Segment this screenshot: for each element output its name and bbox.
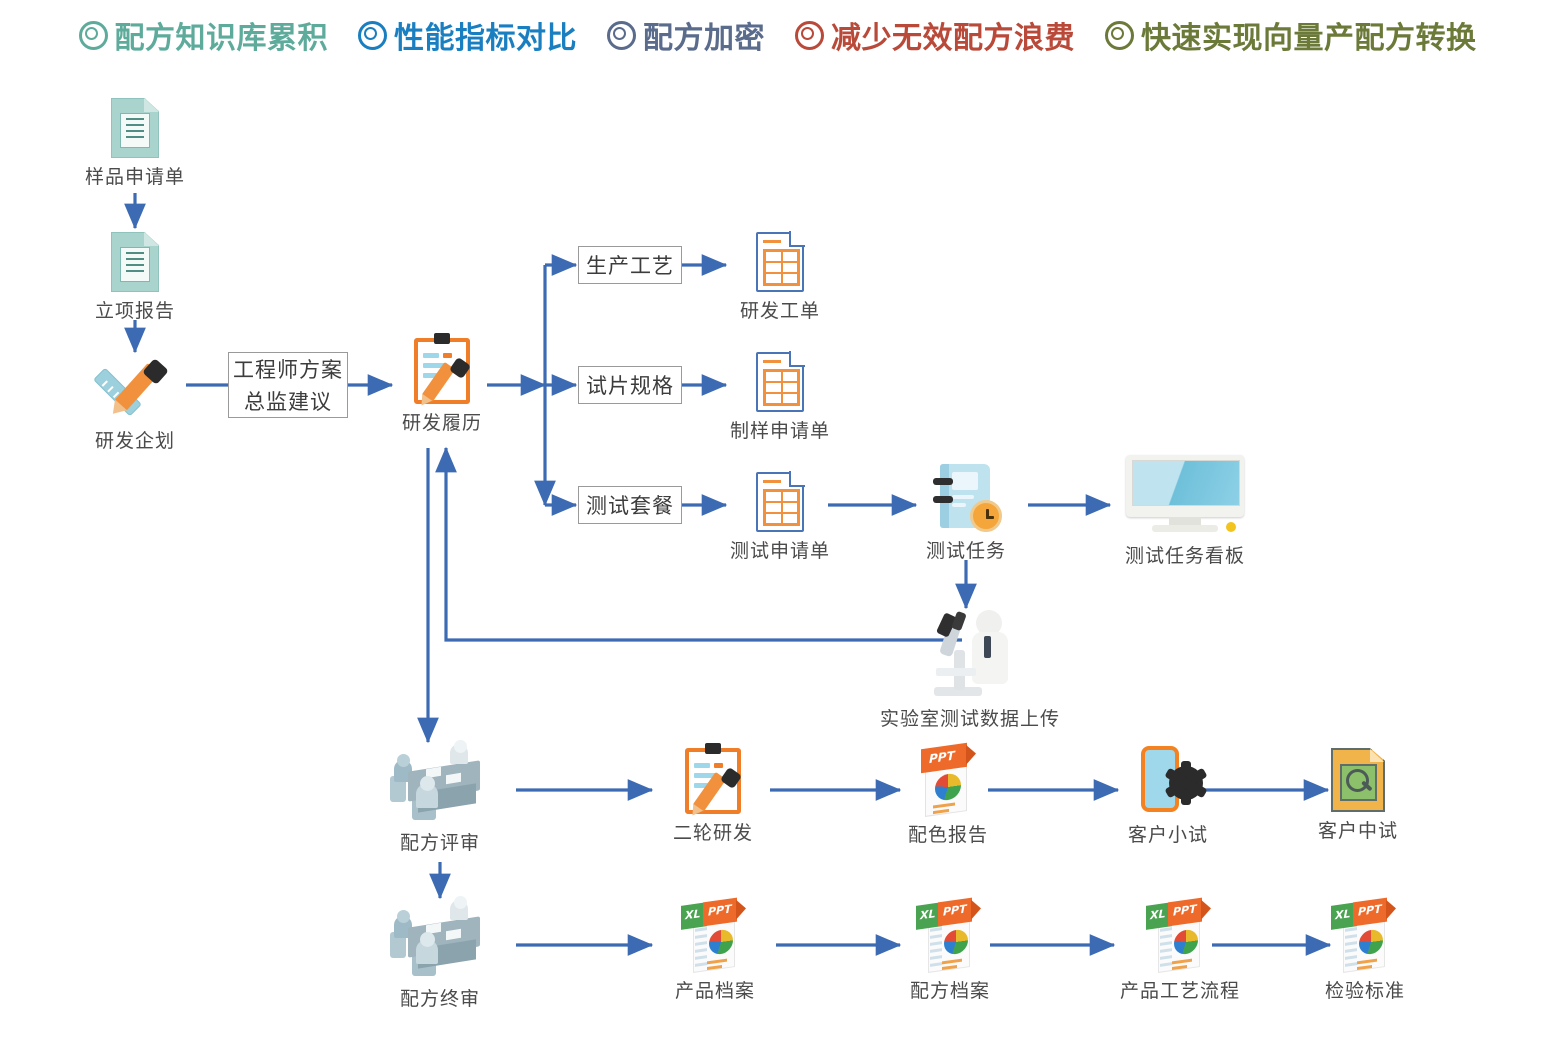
node-label: 制样申请单 — [730, 416, 830, 443]
node-label: 产品档案 — [675, 976, 755, 1003]
feature-tag-0: 配方知识库累积 — [79, 13, 329, 57]
node-color-report[interactable]: PPT 配色报告 — [890, 742, 1006, 847]
node-test-task-board[interactable]: 测试任务看板 — [1115, 455, 1255, 568]
xl-ppt-archive-icon: XL PPT — [1144, 898, 1216, 972]
spreadsheet-doc-icon — [756, 232, 804, 292]
feature-tag-4: 快速实现向量产配方转换 — [1105, 13, 1477, 57]
feature-tag-label: 快速实现向量产配方转换 — [1141, 13, 1477, 57]
node-label: 配方终审 — [400, 984, 480, 1011]
doc-magnifier-icon — [1331, 748, 1385, 812]
feature-tag-3: 减少无效配方浪费 — [795, 13, 1075, 57]
node-sample-request[interactable]: 样品申请单 — [75, 98, 195, 189]
clipboard-pen-icon — [414, 338, 470, 404]
spreadsheet-doc-icon — [756, 472, 804, 532]
node-inspection-standard[interactable]: XL PPT 检验标准 — [1305, 898, 1425, 1003]
node-product-process-flow[interactable]: XL PPT 产品工艺流程 — [1100, 898, 1260, 1003]
flowchart-canvas: 配方知识库累积 性能指标对比 配方加密 减少无效配方浪费 快速实现向量产配方转换 — [0, 0, 1555, 1038]
node-label: 实验室测试数据上传 — [880, 704, 1060, 731]
target-ring-icon — [79, 21, 108, 50]
node-rnd-workorder[interactable]: 研发工单 — [710, 232, 850, 323]
engineer-plan-box: 工程师方案 总监建议 — [228, 352, 348, 418]
node-rnd-plan[interactable]: 研发企划 — [75, 356, 195, 453]
node-label: 测试申请单 — [730, 536, 830, 563]
test-package-box: 测试套餐 — [578, 486, 682, 524]
engineer-plan-label: 工程师方案 — [229, 353, 347, 385]
node-formula-review[interactable]: 配方评审 — [382, 742, 498, 855]
node-test-task[interactable]: 测试任务 — [906, 462, 1026, 563]
node-label: 客户小试 — [1128, 820, 1208, 847]
node-customer-small-trial[interactable]: 客户小试 — [1110, 744, 1226, 847]
node-second-rnd[interactable]: 二轮研发 — [655, 748, 771, 845]
node-label: 客户中试 — [1318, 816, 1398, 843]
spreadsheet-doc-icon — [756, 352, 804, 412]
node-rnd-history[interactable]: 研发履历 — [382, 338, 502, 435]
node-formula-final-review[interactable]: 配方终审 — [382, 898, 498, 1011]
node-formula-archive[interactable]: XL PPT 配方档案 — [890, 898, 1010, 1003]
node-label: 配色报告 — [908, 820, 988, 847]
node-label: 配方评审 — [400, 828, 480, 855]
node-label: 研发履历 — [402, 408, 482, 435]
monitor-icon — [1126, 455, 1244, 537]
specimen-spec-box: 试片规格 — [578, 366, 682, 404]
feature-banner: 配方知识库累积 性能指标对比 配方加密 减少无效配方浪费 快速实现向量产配方转换 — [0, 6, 1555, 64]
meeting-table-icon — [388, 898, 492, 980]
xl-ppt-archive-icon: XL PPT — [914, 898, 986, 972]
meeting-table-icon — [388, 742, 492, 824]
director-advice-label: 总监建议 — [229, 385, 347, 417]
node-label: 配方档案 — [910, 976, 990, 1003]
node-label: 样品申请单 — [85, 162, 185, 189]
production-process-box: 生产工艺 — [578, 246, 682, 284]
node-label: 立项报告 — [95, 296, 175, 323]
target-ring-icon — [1105, 21, 1134, 50]
feature-tag-label: 性能指标对比 — [394, 13, 577, 57]
document-teal-icon — [111, 232, 159, 292]
node-label: 二轮研发 — [673, 818, 753, 845]
feature-tag-label: 减少无效配方浪费 — [831, 13, 1075, 57]
target-ring-icon — [358, 21, 387, 50]
node-label: 测试任务 — [926, 536, 1006, 563]
feature-tag-1: 性能指标对比 — [358, 13, 577, 57]
microscope-icon — [924, 608, 1016, 700]
node-label: 研发工单 — [740, 296, 820, 323]
node-product-archive[interactable]: XL PPT 产品档案 — [655, 898, 775, 1003]
xl-ppt-archive-icon: XL PPT — [1329, 898, 1401, 972]
phone-gear-icon — [1133, 744, 1203, 816]
node-label: 测试任务看板 — [1125, 541, 1245, 568]
node-label: 检验标准 — [1325, 976, 1405, 1003]
ppt-report-icon: PPT — [915, 742, 981, 816]
feature-tag-label: 配方加密 — [643, 13, 765, 57]
node-test-request[interactable]: 测试申请单 — [710, 472, 850, 563]
target-ring-icon — [607, 21, 636, 50]
document-teal-icon — [111, 98, 159, 158]
node-sample-make-request[interactable]: 制样申请单 — [710, 352, 850, 443]
node-lab-upload[interactable]: 实验室测试数据上传 — [870, 608, 1070, 731]
node-customer-mid-trial[interactable]: 客户中试 — [1300, 748, 1416, 843]
xl-ppt-archive-icon: XL PPT — [679, 898, 751, 972]
pencil-ruler-icon — [99, 356, 171, 422]
target-ring-icon — [795, 21, 824, 50]
feature-tag-label: 配方知识库累积 — [115, 13, 329, 57]
feature-tag-2: 配方加密 — [607, 13, 765, 57]
node-label: 产品工艺流程 — [1120, 976, 1240, 1003]
clipboard-pen-icon — [685, 748, 741, 814]
node-label: 研发企划 — [95, 426, 175, 453]
notebook-clock-icon — [932, 462, 1000, 532]
node-project-report[interactable]: 立项报告 — [75, 232, 195, 323]
